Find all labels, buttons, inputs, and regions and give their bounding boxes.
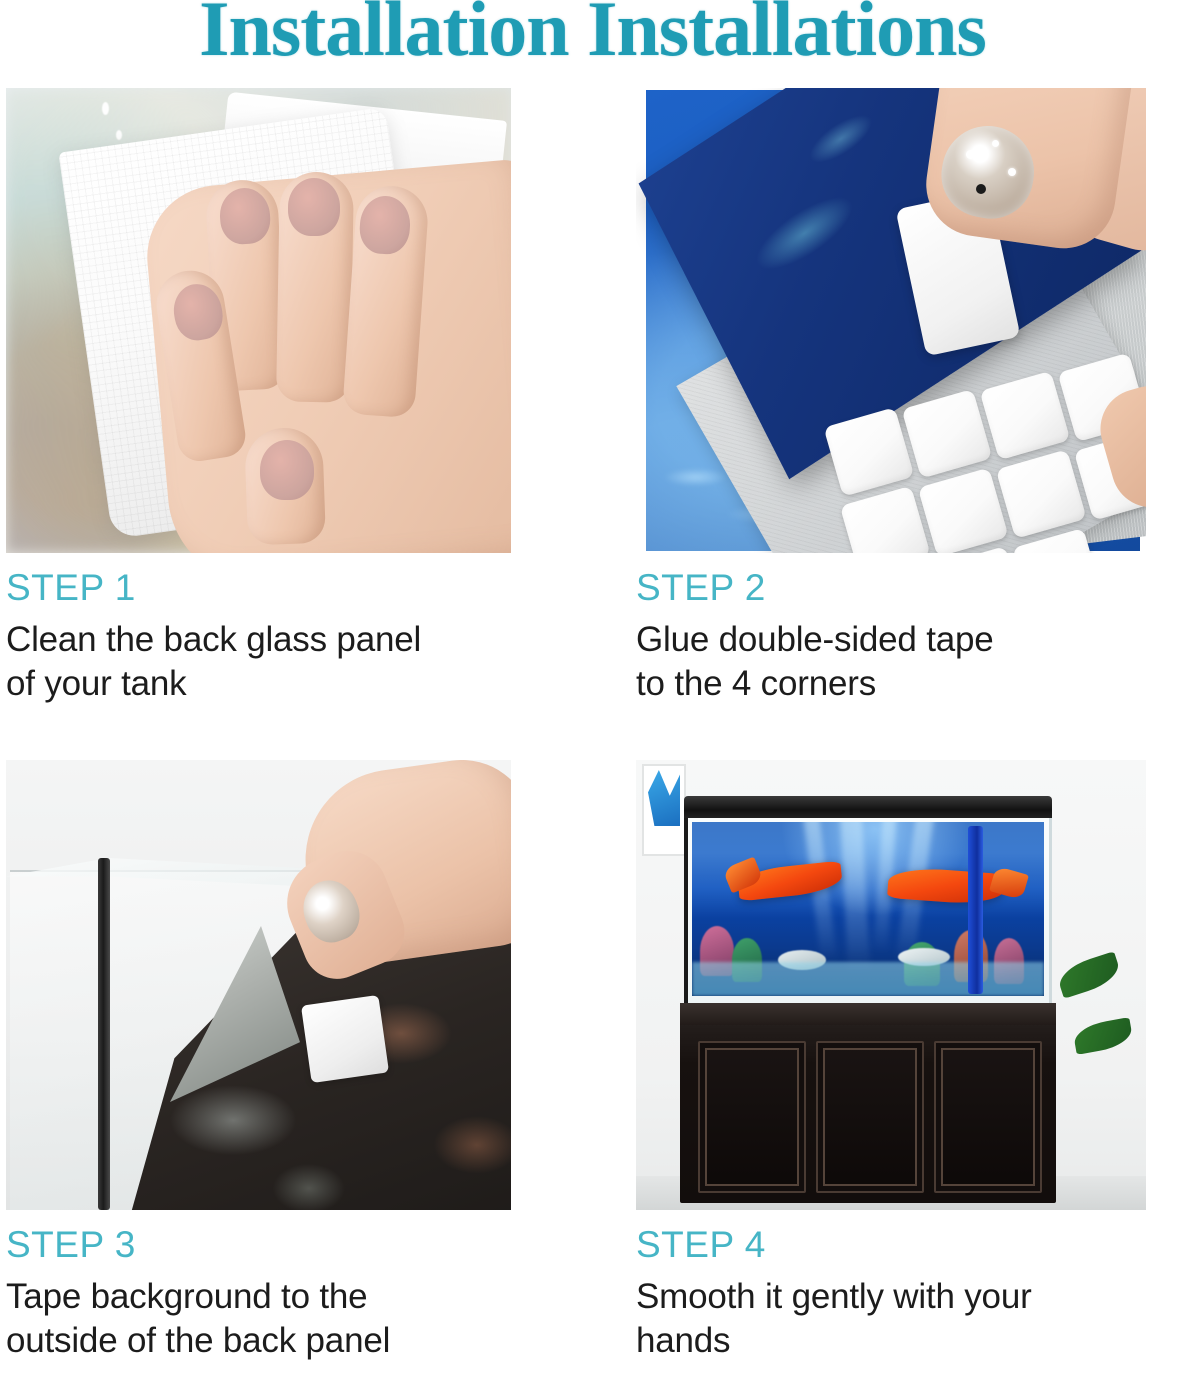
aquarium-underwater-scene bbox=[692, 822, 1044, 996]
cabinet-door bbox=[698, 1041, 806, 1193]
step-2-photo bbox=[636, 88, 1146, 553]
fingernail bbox=[260, 440, 314, 500]
step-1-label: STEP 1 bbox=[6, 569, 511, 608]
page-title: Installation Installations bbox=[199, 0, 986, 70]
step-4-photo bbox=[636, 760, 1146, 1210]
step-card-2: STEP 2 Glue double-sided tape to the 4 c… bbox=[636, 88, 1146, 707]
cabinet-door bbox=[934, 1041, 1042, 1193]
step-4-description: Smooth it gently with your hands bbox=[636, 1275, 1146, 1364]
adhesive-pad bbox=[918, 467, 1009, 553]
cabinet-top-trim bbox=[680, 1003, 1056, 1025]
blue-filter-tube bbox=[968, 826, 983, 994]
step-3-photo bbox=[6, 760, 511, 1210]
water-droplet bbox=[116, 130, 122, 140]
step-2-description: Glue double-sided tape to the 4 corners bbox=[636, 618, 1146, 707]
double-sided-tape-square bbox=[301, 995, 389, 1083]
wall-picture-frame bbox=[642, 764, 686, 856]
fingernail bbox=[288, 178, 340, 236]
page-header: Installation Installations bbox=[0, 0, 1185, 70]
adhesive-pad bbox=[979, 371, 1070, 461]
tank-corner-trim bbox=[98, 858, 110, 1210]
adhesive-pad bbox=[996, 449, 1087, 539]
cabinet-door bbox=[816, 1041, 924, 1193]
step-card-3: STEP 3 Tape background to the outside of… bbox=[6, 760, 511, 1364]
steps-grid: STEP 1 Clean the back glass panel of you… bbox=[0, 70, 1185, 1398]
nail-dot bbox=[976, 184, 986, 194]
step-3-label: STEP 3 bbox=[6, 1226, 511, 1265]
houseplant-leaf bbox=[1055, 951, 1123, 999]
adhesive-pad bbox=[901, 389, 992, 479]
light-ray bbox=[840, 822, 870, 972]
nail-glitter bbox=[966, 150, 975, 159]
water-droplet bbox=[102, 102, 109, 115]
nail-glitter bbox=[992, 140, 999, 147]
step-card-1: STEP 1 Clean the back glass panel of you… bbox=[6, 88, 511, 707]
nail-glitter bbox=[1008, 168, 1016, 176]
step-card-4: STEP 4 Smooth it gently with your hands bbox=[636, 760, 1146, 1364]
step-1-photo bbox=[6, 88, 511, 553]
adhesive-pad bbox=[840, 486, 931, 553]
step-2-label: STEP 2 bbox=[636, 569, 1146, 608]
step-3-description: Tape background to the outside of the ba… bbox=[6, 1275, 511, 1364]
aquarium-cabinet-stand bbox=[680, 1003, 1056, 1203]
step-4-label: STEP 4 bbox=[636, 1226, 1146, 1265]
sand-bed bbox=[692, 962, 1044, 996]
houseplant-leaf bbox=[1072, 1017, 1134, 1055]
step-1-description: Clean the back glass panel of your tank bbox=[6, 618, 511, 707]
